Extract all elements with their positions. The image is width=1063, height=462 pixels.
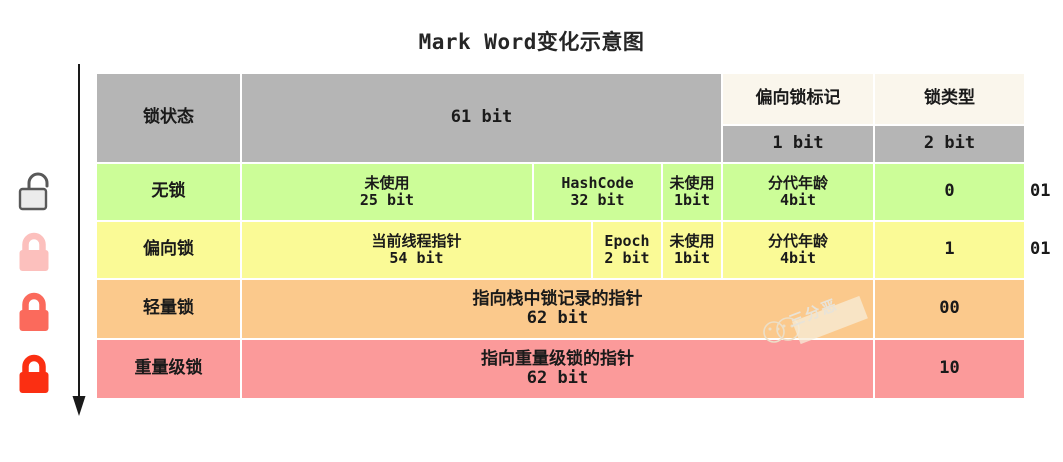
page-title: Mark Word变化示意图 [0, 26, 1063, 56]
table-row: 轻量锁 指向栈中锁记录的指针 62 bit 00 [97, 280, 1026, 338]
header-lock-state: 锁状态 [97, 74, 240, 162]
cell-generation-age-4bit: 分代年龄 4bit [723, 164, 873, 220]
cell-label: 未使用 [667, 233, 717, 250]
cell-bits: 25 bit [246, 192, 528, 209]
cell-bits: 1bit [667, 192, 717, 209]
cell-bits: 62 bit [246, 369, 869, 388]
downward-arrow-icon [62, 62, 96, 418]
cell-label: Epoch [597, 233, 657, 250]
cell-biased-flag: 0 [875, 164, 1024, 220]
cell-label: 分代年龄 [727, 175, 869, 192]
heavyweight-lock-icon [16, 352, 58, 396]
cell-bits: 4bit [727, 250, 869, 267]
cell-heavyweight-lock-pointer-62bit: 指向重量级锁的指针 62 bit [242, 340, 873, 398]
header-lock-type-bits: 2 bit [875, 126, 1024, 162]
header-biased-flag-bits: 1 bit [723, 126, 873, 162]
unlocked-lock-icon [16, 170, 58, 214]
cell-label: 指向栈中锁记录的指针 [246, 290, 869, 309]
cell-unused-1bit: 未使用 1bit [663, 222, 721, 278]
row-state-heavyweight-lock: 重量级锁 [97, 340, 240, 398]
table-header-row-1: 锁状态 61 bit 偏向锁标记 锁类型 [97, 74, 1026, 124]
cell-bits: 4bit [727, 192, 869, 209]
cell-bits: 54 bit [246, 250, 587, 267]
row-state-biased-lock: 偏向锁 [97, 222, 240, 278]
lightweight-lock-icon [16, 290, 58, 334]
row-state-lightweight-lock: 轻量锁 [97, 280, 240, 338]
cell-unused-1bit: 未使用 1bit [663, 164, 721, 220]
cell-epoch-2bit: Epoch 2 bit [593, 222, 661, 278]
cell-label: 未使用 [246, 175, 528, 192]
cell-lock-type: 00 [875, 280, 1024, 338]
header-biased-flag: 偏向锁标记 [723, 74, 873, 124]
header-main-bits: 61 bit [242, 74, 721, 162]
table-row: 无锁 未使用 25 bit HashCode 32 bit 未使用 1bit 分… [97, 164, 1026, 220]
cell-stack-lock-record-pointer-62bit: 指向栈中锁记录的指针 62 bit [242, 280, 873, 338]
cell-label: 当前线程指针 [246, 233, 587, 250]
cell-lock-type: 10 [875, 340, 1024, 398]
cell-bits: 1bit [667, 250, 717, 267]
mark-word-table: 锁状态 61 bit 偏向锁标记 锁类型 1 bit 2 bit 无锁 未使用 … [95, 72, 1028, 400]
header-lock-type: 锁类型 [875, 74, 1024, 124]
table-row: 重量级锁 指向重量级锁的指针 62 bit 10 [97, 340, 1026, 398]
cell-bits: 62 bit [246, 309, 869, 328]
cell-thread-pointer-54bit: 当前线程指针 54 bit [242, 222, 591, 278]
table-row: 偏向锁 当前线程指针 54 bit Epoch 2 bit 未使用 1bit 分… [97, 222, 1026, 278]
cell-hashcode-32bit: HashCode 32 bit [534, 164, 661, 220]
cell-label: 指向重量级锁的指针 [246, 350, 869, 369]
cell-label: HashCode [538, 175, 657, 192]
cell-biased-flag: 1 [875, 222, 1024, 278]
cell-bits: 2 bit [597, 250, 657, 267]
cell-generation-age-4bit: 分代年龄 4bit [723, 222, 873, 278]
cell-label: 分代年龄 [727, 233, 869, 250]
cell-unused-25bit: 未使用 25 bit [242, 164, 532, 220]
biased-lock-icon [16, 230, 58, 274]
row-state-no-lock: 无锁 [97, 164, 240, 220]
cell-label: 未使用 [667, 175, 717, 192]
cell-bits: 32 bit [538, 192, 657, 209]
